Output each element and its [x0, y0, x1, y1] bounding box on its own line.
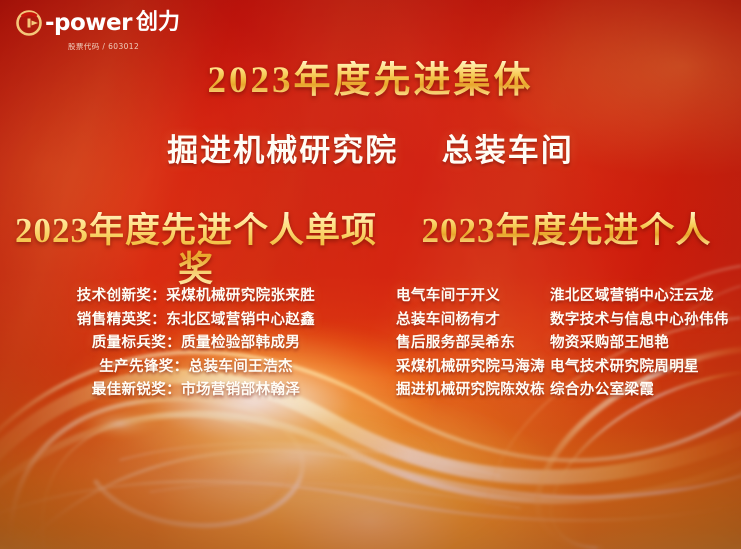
- winner-name: 掘进机械研究院陈效栋: [396, 380, 550, 401]
- list-item: 技术创新奖：采煤机械研究院张来胜: [77, 286, 315, 307]
- page-title: 2023年度先进集体: [0, 61, 741, 102]
- award-lists: 技术创新奖：采煤机械研究院张来胜 销售精英奖：东北区域营销中心赵鑫 质量标兵奖：…: [0, 286, 741, 401]
- section-heading-special-awards: 2023年度先进个人单项奖: [0, 212, 392, 289]
- c-power-logo-icon: [16, 10, 42, 36]
- logo-wordmark: -power: [45, 12, 132, 35]
- collective-winner-2: 总装车间: [442, 133, 574, 168]
- section-headings: 2023年度先进个人单项奖 2023年度先进个人: [0, 212, 741, 289]
- winner-name: 售后服务部吴希东: [396, 333, 550, 354]
- collective-winner-1: 掘进机械研究院: [167, 133, 398, 168]
- list-item: 总装车间杨有才 数字技术与信息中心孙伟伟: [396, 310, 741, 331]
- winner-name: 总装车间杨有才: [396, 310, 550, 331]
- award-poster: -power 创力 股票代码 / 603012 2023年度先进集体 掘进机械研…: [0, 0, 741, 549]
- logo-wordmark-cn: 创力: [136, 12, 180, 34]
- list-item: 最佳新锐奖：市场营销部林翰泽: [92, 380, 301, 401]
- list-item: 掘进机械研究院陈效栋 综合办公室梁霞: [396, 380, 741, 401]
- collective-winners: 掘进机械研究院 总装车间: [0, 133, 741, 169]
- section-heading-individual-awards: 2023年度先进个人: [392, 212, 741, 251]
- list-item: 采煤机械研究院马海涛 电气技术研究院周明星: [396, 357, 741, 378]
- winner-name: 电气车间于开义: [396, 286, 550, 307]
- list-item: 销售精英奖：东北区域营销中心赵鑫: [77, 310, 315, 331]
- list-item: 售后服务部吴希东 物资采购部王旭艳: [396, 333, 741, 354]
- winner-name: 采煤机械研究院马海涛: [396, 357, 550, 378]
- winner-name: 淮北区域营销中心汪云龙: [550, 286, 714, 307]
- special-award-list: 技术创新奖：采煤机械研究院张来胜 销售精英奖：东北区域营销中心赵鑫 质量标兵奖：…: [0, 286, 392, 401]
- company-logo[interactable]: -power 创力 股票代码 / 603012: [16, 10, 216, 52]
- winner-name: 综合办公室梁霞: [550, 380, 654, 401]
- stock-code-note: 股票代码 / 603012: [68, 41, 216, 52]
- list-item: 质量标兵奖：质量检验部韩成男: [92, 333, 301, 354]
- list-item: 生产先锋奖：总装车间王浩杰: [99, 357, 293, 378]
- winner-name: 数字技术与信息中心孙伟伟: [550, 310, 729, 331]
- winner-name: 物资采购部王旭艳: [550, 333, 669, 354]
- winner-name: 电气技术研究院周明星: [550, 357, 699, 378]
- individual-award-list: 电气车间于开义 淮北区域营销中心汪云龙 总装车间杨有才 数字技术与信息中心孙伟伟…: [392, 286, 741, 401]
- list-item: 电气车间于开义 淮北区域营销中心汪云龙: [396, 286, 741, 307]
